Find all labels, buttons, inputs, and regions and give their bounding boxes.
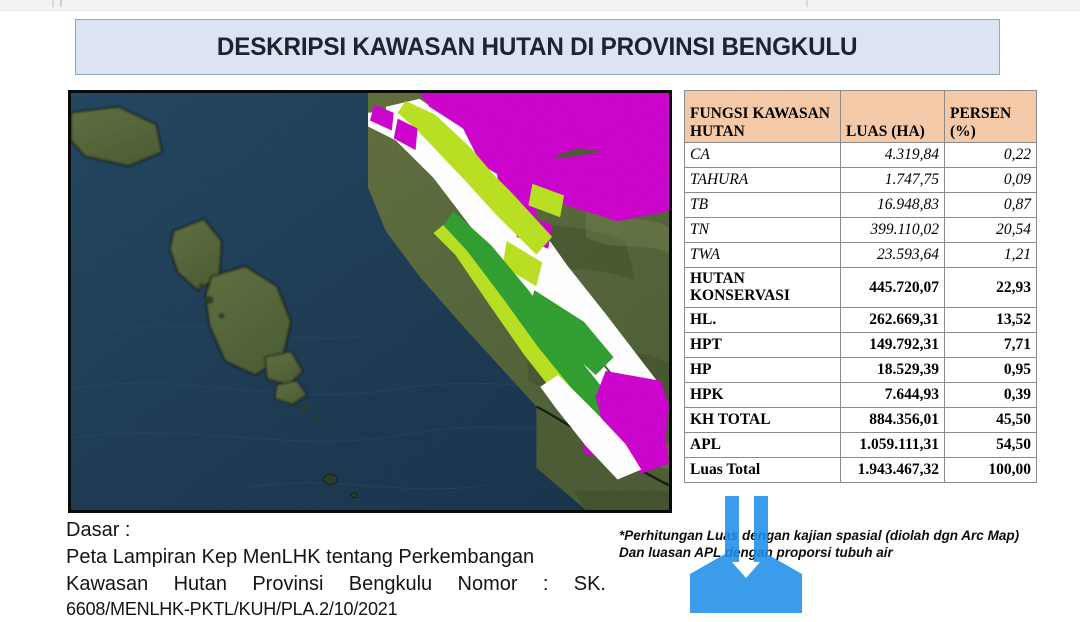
cell-luas-ha: 399.110,02: [841, 218, 945, 243]
table-row: HPT149.792,317,71: [685, 332, 1037, 357]
table-row: HPK7.644,930,39: [685, 382, 1037, 407]
dasar-label: Dasar :: [66, 517, 606, 544]
table-header-row: FUNGSI KAWASAN HUTAN LUAS (HA) PERSEN (%…: [685, 91, 1037, 143]
col-header-luas-label: LUAS (HA): [846, 123, 925, 140]
cell-persen: 1,21: [945, 243, 1037, 268]
cell-luas-ha: 16.948,83: [841, 193, 945, 218]
col-header-fungsi-kawasan-hutan: FUNGSI KAWASAN HUTAN: [685, 91, 841, 143]
map-frame: [68, 90, 672, 513]
cell-persen: 100,00: [945, 457, 1037, 482]
cell-luas-ha: 23.593,64: [841, 243, 945, 268]
table-row: TAHURA1.747,750,09: [685, 168, 1037, 193]
cell-persen: 45,50: [945, 407, 1037, 432]
ruler-tick: [806, 0, 808, 7]
table-row: CA4.319,840,22: [685, 143, 1037, 168]
cell-persen: 0,09: [945, 168, 1037, 193]
cell-fungsi-kawasan: TB: [685, 193, 841, 218]
cell-luas-ha: 7.644,93: [841, 382, 945, 407]
cell-fungsi-kawasan: APL: [685, 432, 841, 457]
col-header-persen: PERSEN (%): [945, 91, 1037, 143]
table-container: FUNGSI KAWASAN HUTAN LUAS (HA) PERSEN (%…: [684, 90, 1036, 483]
table-footnote: *Perhitungan Luas dengan kajian spasial …: [619, 528, 1039, 562]
cell-persen: 0,87: [945, 193, 1037, 218]
cell-fungsi-kawasan: TN: [685, 218, 841, 243]
cell-persen: 20,54: [945, 218, 1037, 243]
table-row: APL1.059.111,3154,50: [685, 432, 1037, 457]
cell-fungsi-kawasan: TWA: [685, 243, 841, 268]
col-header-persen-line2: (%): [950, 123, 976, 140]
table-row: Luas Total1.943.467,32100,00: [685, 457, 1037, 482]
col-header-luas: LUAS (HA): [841, 91, 945, 143]
ruler-strip: [0, 0, 1080, 11]
dasar-line-1: Peta Lampiran Kep MenLHK tentang Perkemb…: [66, 544, 606, 571]
cell-fungsi-kawasan: HUTAN KONSERVASI: [685, 268, 841, 308]
cell-persen: 0,22: [945, 143, 1037, 168]
cell-luas-ha: 18.529,39: [841, 357, 945, 382]
table-row: HUTAN KONSERVASI445.720,0722,93: [685, 268, 1037, 308]
cell-luas-ha: 4.319,84: [841, 143, 945, 168]
cell-fungsi-kawasan: HL.: [685, 307, 841, 332]
cell-persen: 22,93: [945, 268, 1037, 308]
cell-persen: 0,39: [945, 382, 1037, 407]
cell-persen: 13,52: [945, 307, 1037, 332]
table-row: KH TOTAL884.356,0145,50: [685, 407, 1037, 432]
col-header-line1: FUNGSI KAWASAN: [690, 105, 830, 122]
col-header-line2: HUTAN: [690, 123, 745, 140]
cell-persen: 7,71: [945, 332, 1037, 357]
col-header-persen-line1: PERSEN: [950, 105, 1011, 122]
map-image: [71, 93, 669, 510]
cell-fungsi-kawasan: HPK: [685, 382, 841, 407]
cell-luas-ha: 149.792,31: [841, 332, 945, 357]
dasar-line-3: 6608/MENLHK-PKTL/KUH/PLA.2/10/2021: [66, 597, 606, 621]
cell-luas-ha: 445.720,07: [841, 268, 945, 308]
footnote-line-2: Dan luasan APL dengan proporsi tubuh air: [619, 545, 1039, 562]
cell-luas-ha: 1.943.467,32: [841, 457, 945, 482]
table-row: HP18.529,390,95: [685, 357, 1037, 382]
table-row: HL.262.669,3113,52: [685, 307, 1037, 332]
cell-luas-ha: 1.747,75: [841, 168, 945, 193]
table-row: TB16.948,830,87: [685, 193, 1037, 218]
cell-persen: 54,50: [945, 432, 1037, 457]
page-title: DESKRIPSI KAWASAN HUTAN DI PROVINSI BENG…: [217, 33, 857, 62]
cell-fungsi-kawasan: HP: [685, 357, 841, 382]
ruler-tick: [60, 0, 62, 7]
forest-area-table: FUNGSI KAWASAN HUTAN LUAS (HA) PERSEN (%…: [684, 90, 1037, 483]
cell-fungsi-kawasan: CA: [685, 143, 841, 168]
cell-luas-ha: 1.059.111,31: [841, 432, 945, 457]
table-row: TN399.110,0220,54: [685, 218, 1037, 243]
cell-fungsi-kawasan: Luas Total: [685, 457, 841, 482]
source-reference-block: Dasar : Peta Lampiran Kep MenLHK tentang…: [66, 517, 606, 622]
slide-title-banner: DESKRIPSI KAWASAN HUTAN DI PROVINSI BENG…: [75, 19, 1000, 75]
cell-fungsi-kawasan: TAHURA: [685, 168, 841, 193]
cell-persen: 0,95: [945, 357, 1037, 382]
table-row: TWA23.593,641,21: [685, 243, 1037, 268]
dasar-line-2: Kawasan Hutan Provinsi Bengkulu Nomor : …: [66, 571, 606, 598]
footnote-line-1: *Perhitungan Luas dengan kajian spasial …: [619, 528, 1039, 545]
cell-luas-ha: 262.669,31: [841, 307, 945, 332]
cell-fungsi-kawasan: KH TOTAL: [685, 407, 841, 432]
cell-luas-ha: 884.356,01: [841, 407, 945, 432]
ruler-tick: [52, 0, 54, 7]
cell-fungsi-kawasan: HPT: [685, 332, 841, 357]
